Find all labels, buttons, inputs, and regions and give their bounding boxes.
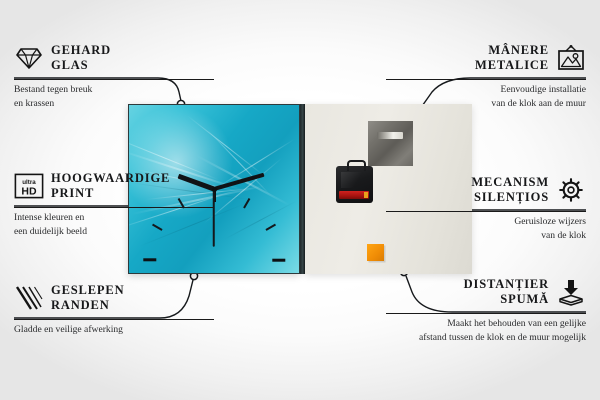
clock-tick-2 [265,224,276,231]
hanger-slot [377,132,403,139]
diamond-icon [14,43,44,73]
feature-mecanism-silentios: MECANISM SILENȚIOS Geruisloze wijzers va… [386,170,586,242]
feature-gehard-glas: GEHARD GLAS Bestand tegen breuk en krass… [14,38,214,110]
feature-header: GEHARD GLAS [14,38,214,78]
mechanism-highlight [341,172,363,188]
feature-title: GESLEPEN RANDEN [51,283,125,314]
feature-divider [386,313,586,314]
gear-icon [556,175,586,205]
feature-header: DISTANȚIER SPUMĂ [386,272,586,312]
feature-header: ultra HD HOOGWAARDIGE PRINT [14,166,214,206]
feature-divider [14,79,214,80]
feature-description: Bestand tegen breuk en krassen [14,83,214,110]
feature-hoogwaardige-print: ultra HD HOOGWAARDIGE PRINT Intense kleu… [14,166,214,238]
feature-divider [386,79,586,80]
down-arrow-pad-icon [556,277,586,307]
feature-title: GEHARD GLAS [51,43,111,74]
ultra-hd-icon: ultra HD [14,171,44,201]
feature-header: MÂNERE METALICE [386,38,586,78]
clock-tick-9 [143,259,156,262]
feature-description: Eenvoudige installatie van de klok aan d… [386,83,586,110]
feature-geslepen-randen: GESLEPEN RANDEN Gladde en veilige afwerk… [14,278,214,337]
feature-divider [14,207,214,208]
feature-title: DISTANȚIER SPUMĂ [464,277,549,308]
feature-description: Intense kleuren en een duidelijk beeld [14,211,214,238]
feature-title: HOOGWAARDIGE PRINT [51,171,170,202]
mechanism-hanging-loop [347,160,366,171]
feature-description: Maakt het behouden van een gelijke afsta… [358,317,586,344]
feature-divider [14,319,214,320]
clock-mechanism [336,166,373,203]
picture-frame-hanger-icon [556,43,586,73]
feature-title: MÂNERE METALICE [475,43,549,74]
feature-title: MECANISM SILENȚIOS [471,175,549,206]
feature-description: Geruisloze wijzers van de klok [386,215,586,242]
battery-terminal [364,192,368,198]
feature-header: GESLEPEN RANDEN [14,278,214,318]
foam-spacer [367,244,384,261]
aa-battery [339,191,369,199]
metal-hanger-plate [368,121,413,166]
feature-description: Gladde en veilige afwerking [14,323,214,337]
feature-header: MECANISM SILENȚIOS [386,170,586,210]
product-infographic: GEHARD GLAS Bestand tegen breuk en krass… [0,0,600,400]
svg-text:HD: HD [21,186,37,198]
feature-manere-metalice: MÂNERE METALICE Eenvoudige installatie v… [386,38,586,110]
beveled-edges-icon [14,283,44,313]
clock-tick-3 [272,259,285,262]
feature-divider [386,211,586,212]
feature-distantier-spuma: DISTANȚIER SPUMĂ Maakt het behouden van … [386,272,586,344]
